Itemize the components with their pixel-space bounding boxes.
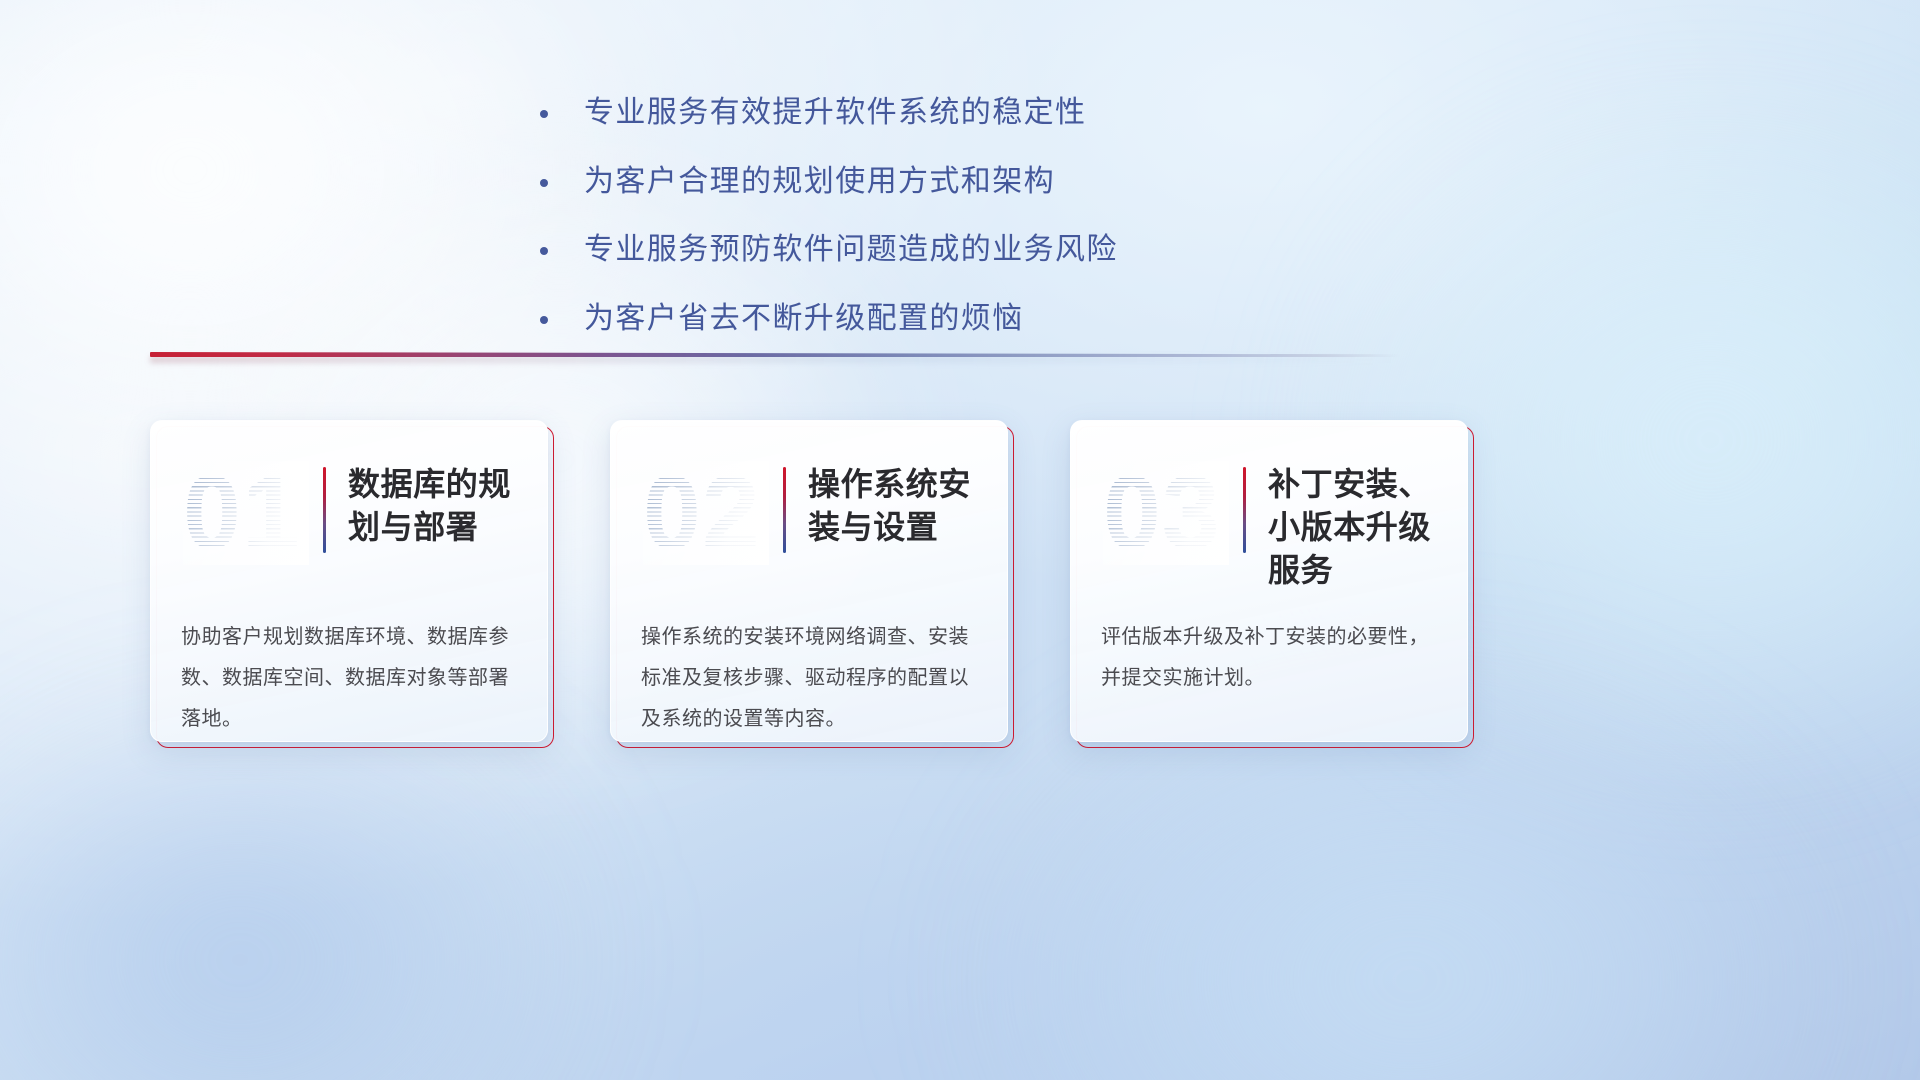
bullet-dot-icon bbox=[540, 247, 548, 255]
card-surface: 03 补丁安装、小版本升级服务 评估版本升级及补丁安装的必要性，并提交实施计划。 bbox=[1070, 420, 1468, 742]
card-surface: 02 操作系统安装与设置 操作系统的安装环境网络调查、安装标准及复核步骤、驱动程… bbox=[610, 420, 1008, 742]
service-card-row: 01 数据库的规划与部署 协助客户规划数据库环境、数据库参数、数据库空间、数据库… bbox=[150, 420, 1770, 742]
bullet-dot-icon bbox=[540, 316, 548, 324]
card-surface: 01 数据库的规划与部署 协助客户规划数据库环境、数据库参数、数据库空间、数据库… bbox=[150, 420, 548, 742]
slide-canvas: 专业服务有效提升软件系统的稳定性 为客户合理的规划使用方式和架构 专业服务预防软… bbox=[0, 0, 1920, 1080]
service-card-02[interactable]: 02 操作系统安装与设置 操作系统的安装环境网络调查、安装标准及复核步骤、驱动程… bbox=[610, 420, 1008, 742]
card-header: 01 数据库的规划与部署 bbox=[181, 461, 517, 579]
card-description: 评估版本升级及补丁安装的必要性，并提交实施计划。 bbox=[1101, 617, 1437, 699]
title-separator-bar bbox=[323, 467, 326, 553]
title-separator-bar bbox=[783, 467, 786, 553]
card-number-watermark: 03 bbox=[1103, 461, 1229, 565]
card-header: 03 补丁安装、小版本升级服务 bbox=[1101, 461, 1437, 579]
card-number-watermark: 01 bbox=[183, 461, 309, 565]
bullet-text: 专业服务有效提升软件系统的稳定性 bbox=[584, 92, 1086, 135]
list-item: 为客户合理的规划使用方式和架构 bbox=[540, 161, 1440, 204]
list-item: 专业服务有效提升软件系统的稳定性 bbox=[540, 92, 1440, 135]
card-description: 协助客户规划数据库环境、数据库参数、数据库空间、数据库对象等部署落地。 bbox=[181, 617, 517, 740]
bullet-dot-icon bbox=[540, 179, 548, 187]
service-card-03[interactable]: 03 补丁安装、小版本升级服务 评估版本升级及补丁安装的必要性，并提交实施计划。 bbox=[1070, 420, 1468, 742]
service-card-01[interactable]: 01 数据库的规划与部署 协助客户规划数据库环境、数据库参数、数据库空间、数据库… bbox=[150, 420, 548, 742]
section-divider bbox=[150, 348, 1400, 362]
card-number-watermark: 02 bbox=[643, 461, 769, 565]
card-title: 数据库的规划与部署 bbox=[348, 461, 517, 549]
bullet-text: 专业服务预防软件问题造成的业务风险 bbox=[584, 229, 1118, 272]
divider-line bbox=[150, 352, 1400, 357]
list-item: 为客户省去不断升级配置的烦恼 bbox=[540, 298, 1440, 341]
bullet-text: 为客户省去不断升级配置的烦恼 bbox=[584, 298, 1024, 341]
benefits-bullet-list: 专业服务有效提升软件系统的稳定性 为客户合理的规划使用方式和架构 专业服务预防软… bbox=[540, 92, 1440, 366]
card-title: 补丁安装、小版本升级服务 bbox=[1268, 461, 1437, 592]
card-title: 操作系统安装与设置 bbox=[808, 461, 977, 549]
bullet-text: 为客户合理的规划使用方式和架构 bbox=[584, 161, 1055, 204]
divider-shadow bbox=[150, 356, 1400, 363]
card-header: 02 操作系统安装与设置 bbox=[641, 461, 977, 579]
title-separator-bar bbox=[1243, 467, 1246, 553]
bullet-dot-icon bbox=[540, 110, 548, 118]
card-description: 操作系统的安装环境网络调查、安装标准及复核步骤、驱动程序的配置以及系统的设置等内… bbox=[641, 617, 977, 740]
list-item: 专业服务预防软件问题造成的业务风险 bbox=[540, 229, 1440, 272]
